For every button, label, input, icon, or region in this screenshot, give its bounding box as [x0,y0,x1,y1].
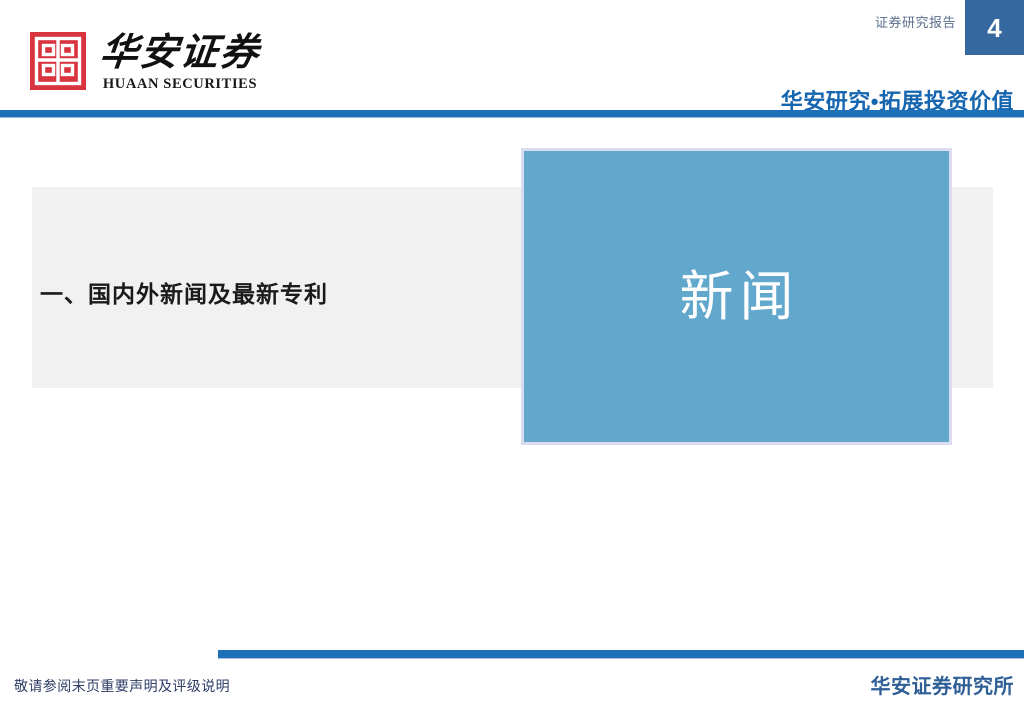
report-type-kicker: 证券研究报告 [836,12,956,31]
logo-company-cn: 华安证券 [98,34,262,72]
page-number-badge: 4 [965,0,1024,55]
footer-institute: 华安证券研究所 [871,670,1015,699]
section-heading: 一、国内外新闻及最新专利 [40,275,328,309]
footer-disclaimer: 敬请参阅末页重要声明及评级说明 [14,676,230,696]
header-divider [0,110,1024,118]
slide-canvas: 华安证券 HUAAN SECURITIES 证券研究报告 4 华安研究•拓展投资… [0,0,1024,709]
logo-wordmark: 华安证券 HUAAN SECURITIES [100,32,260,92]
logo-company-en: HUAAN SECURITIES [103,77,257,92]
huaan-seal-logo-icon [30,32,86,90]
feature-card-news: 新闻 [521,148,952,445]
feature-card-label: 新闻 [674,270,800,324]
page-number-value: 4 [987,15,1001,41]
brand-logo: 华安证券 HUAAN SECURITIES [30,32,260,92]
footer-divider [218,650,1024,659]
